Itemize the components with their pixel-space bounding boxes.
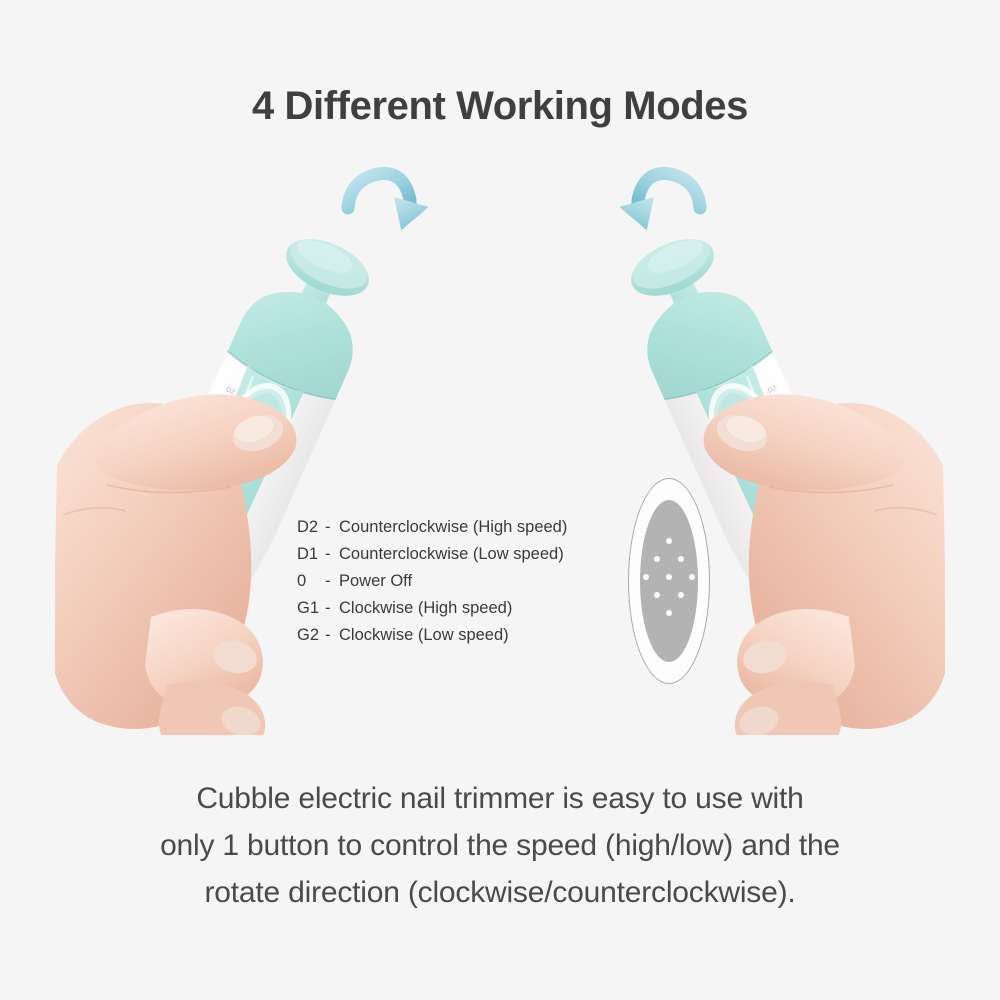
mode-code: G1: [297, 599, 325, 618]
list-item: G2 - Clockwise (Low speed): [297, 626, 627, 653]
sanding-pad-surface: [640, 500, 698, 662]
counterclockwise-rotation-arrow: [616, 166, 708, 238]
list-item: D1 - Counterclockwise (Low speed): [297, 545, 627, 572]
list-item: 0 - Power Off: [297, 572, 627, 599]
mode-code: D1: [297, 545, 325, 564]
pad-dot: [654, 592, 660, 598]
mode-description: Power Off: [339, 572, 627, 591]
pad-dot: [678, 556, 684, 562]
mode-dash: -: [325, 545, 339, 564]
working-modes-legend: D2 - Counterclockwise (High speed) D1 - …: [297, 518, 627, 653]
pad-dot: [689, 574, 695, 580]
caption-line-2: only 1 button to control the speed (high…: [60, 822, 940, 869]
mode-dash: -: [325, 626, 339, 645]
mode-code: 0: [297, 572, 325, 591]
mode-dash: -: [325, 518, 339, 537]
mode-dash: -: [325, 572, 339, 591]
sanding-pad-accessory: [628, 478, 710, 684]
pad-dot: [666, 610, 672, 616]
mode-description: Clockwise (Low speed): [339, 626, 627, 645]
pad-dot: [678, 592, 684, 598]
clockwise-rotation-arrow: [340, 166, 432, 238]
pad-dot: [643, 574, 649, 580]
mode-description: Counterclockwise (High speed): [339, 518, 627, 537]
mode-description: Counterclockwise (Low speed): [339, 545, 627, 564]
mode-code: D2: [297, 518, 325, 537]
list-item: D2 - Counterclockwise (High speed): [297, 518, 627, 545]
caption-line-3: rotate direction (clockwise/counterclock…: [60, 869, 940, 916]
pad-dot: [654, 556, 660, 562]
pad-dot: [666, 538, 672, 544]
list-item: G1 - Clockwise (High speed): [297, 599, 627, 626]
mode-code: G2: [297, 626, 325, 645]
mode-description: Clockwise (High speed): [339, 599, 627, 618]
pad-dot: [666, 574, 672, 580]
infographic-root: 4 Different Working Modes: [0, 0, 1000, 1000]
product-description: Cubble electric nail trimmer is easy to …: [60, 775, 940, 916]
caption-line-1: Cubble electric nail trimmer is easy to …: [60, 775, 940, 822]
mode-dash: -: [325, 599, 339, 618]
